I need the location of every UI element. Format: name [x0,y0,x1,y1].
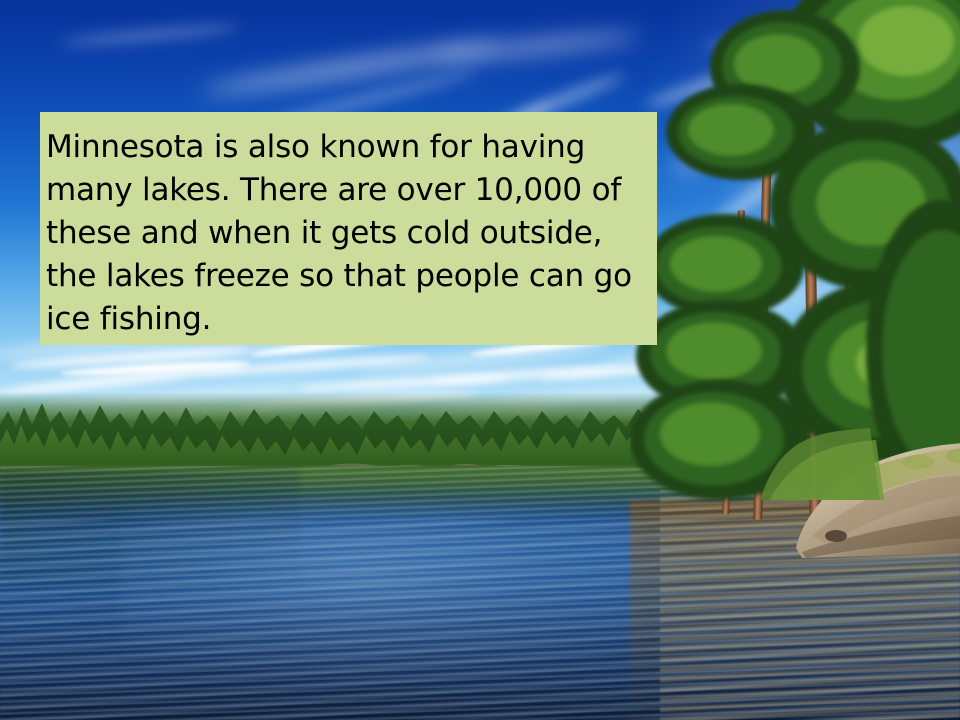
caption-text: Minnesota is also known for having many … [46,126,639,341]
pine-foliage [660,402,760,466]
caption-textbox[interactable]: Minnesota is also known for having many … [40,112,657,345]
shore-grass [760,420,900,500]
pine-foliage [858,6,954,76]
slide-canvas: Minnesota is also known for having many … [0,0,960,720]
pine-foliage [670,236,762,292]
pine-foliage [666,322,762,380]
pine-foliage [688,104,774,156]
